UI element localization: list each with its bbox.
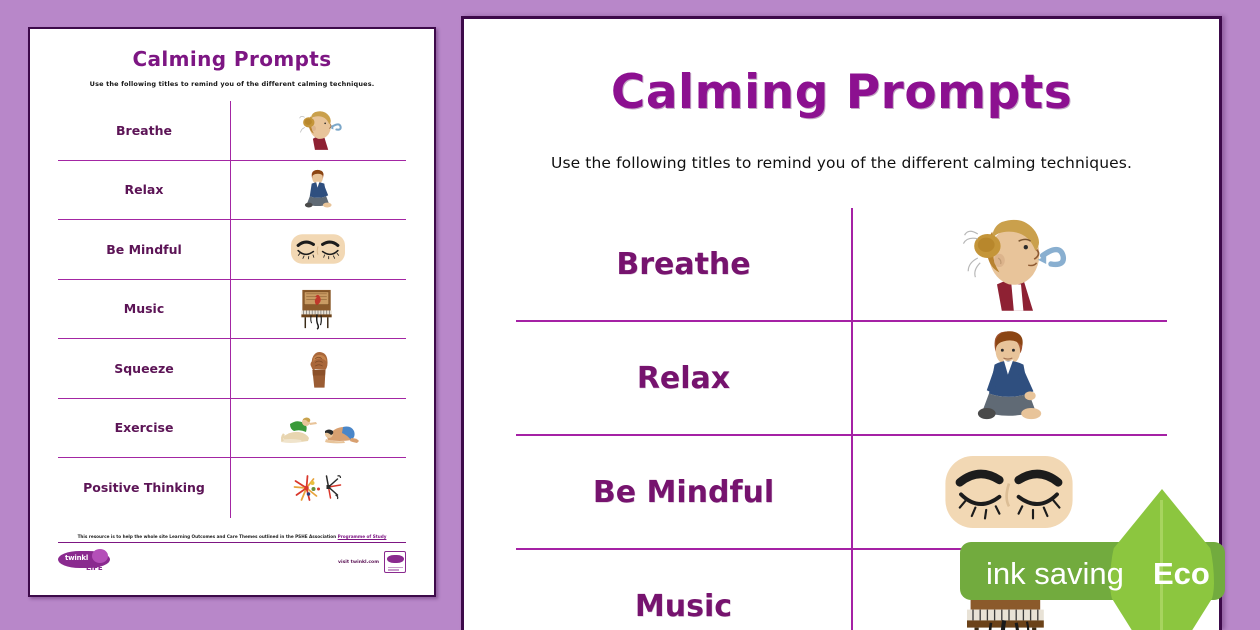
- fireworks-icon: [230, 458, 406, 518]
- thumbnail-page-title: Calming Prompts: [30, 47, 434, 71]
- table-row: Breathe: [58, 101, 406, 161]
- prompt-label: Positive Thinking: [58, 480, 230, 495]
- thumbnail-page-preview[interactable]: Calming Prompts Use the following titles…: [28, 27, 436, 597]
- sitting-boy-icon: [230, 161, 406, 220]
- clenched-fist-icon: [230, 339, 406, 398]
- prompt-label: Be Mindful: [58, 242, 230, 257]
- badge-line-1: [388, 567, 403, 568]
- sitting-boy-icon: [851, 322, 1167, 434]
- prompt-label: Relax: [516, 361, 851, 396]
- closed-eyes-icon: [230, 220, 406, 279]
- prompt-label: Music: [516, 589, 851, 624]
- thumbnail-page-subtitle: Use the following titles to remind you o…: [30, 80, 434, 88]
- badge-line-2: [388, 569, 399, 570]
- twinkl-badge-icon: [384, 551, 406, 573]
- table-row: Breathe: [516, 208, 1167, 322]
- twinkl-life-logo: twinkl LIFE: [58, 549, 120, 575]
- visit-website-text[interactable]: visit twinkl.com: [338, 560, 379, 565]
- table-row: Music: [58, 280, 406, 340]
- breathing-woman-icon: [851, 208, 1167, 320]
- thumbnail-footer-credit: This resource is to help the whole site …: [58, 534, 406, 542]
- prompt-label: Breathe: [58, 123, 230, 138]
- page-subtitle: Use the following titles to remind you o…: [464, 154, 1219, 172]
- logo-wordmark: twinkl: [65, 554, 88, 562]
- logo-blob-accent: [92, 549, 108, 563]
- thumbnail-footer: This resource is to help the whole site …: [58, 534, 406, 577]
- ink-saving-eco-badge[interactable]: ink saving Eco: [960, 530, 1260, 600]
- yoga-poses-icon: [230, 399, 406, 458]
- logo-sublabel: LIFE: [86, 564, 103, 572]
- table-row: Relax: [58, 161, 406, 221]
- credit-text: This resource is to help the whole site …: [78, 534, 338, 539]
- page-title: Calming Prompts: [464, 65, 1219, 120]
- piano-icon: [230, 280, 406, 339]
- table-row: Be Mindful: [58, 220, 406, 280]
- credit-link[interactable]: Programme of Study: [338, 534, 387, 539]
- prompt-label: Be Mindful: [516, 475, 851, 510]
- table-row: Positive Thinking: [58, 458, 406, 518]
- footer-bar: twinkl LIFE visit twinkl.com: [58, 547, 406, 577]
- eco-badge-label-left: ink saving: [986, 556, 1124, 592]
- prompt-label: Relax: [58, 182, 230, 197]
- prompt-label: Squeeze: [58, 361, 230, 376]
- table-row: Relax: [516, 322, 1167, 436]
- prompt-label: Exercise: [58, 420, 230, 435]
- table-row: Exercise: [58, 399, 406, 459]
- thumbnail-prompts-table: Breathe: [58, 101, 406, 518]
- badge-blob: [387, 555, 404, 563]
- breathing-woman-icon: [230, 101, 406, 160]
- table-row: Squeeze: [58, 339, 406, 399]
- footer-right-group: visit twinkl.com: [338, 551, 406, 573]
- footer-divider: [58, 542, 406, 543]
- eco-badge-label-right: Eco: [1153, 556, 1210, 592]
- prompt-label: Music: [58, 301, 230, 316]
- prompt-label: Breathe: [516, 247, 851, 282]
